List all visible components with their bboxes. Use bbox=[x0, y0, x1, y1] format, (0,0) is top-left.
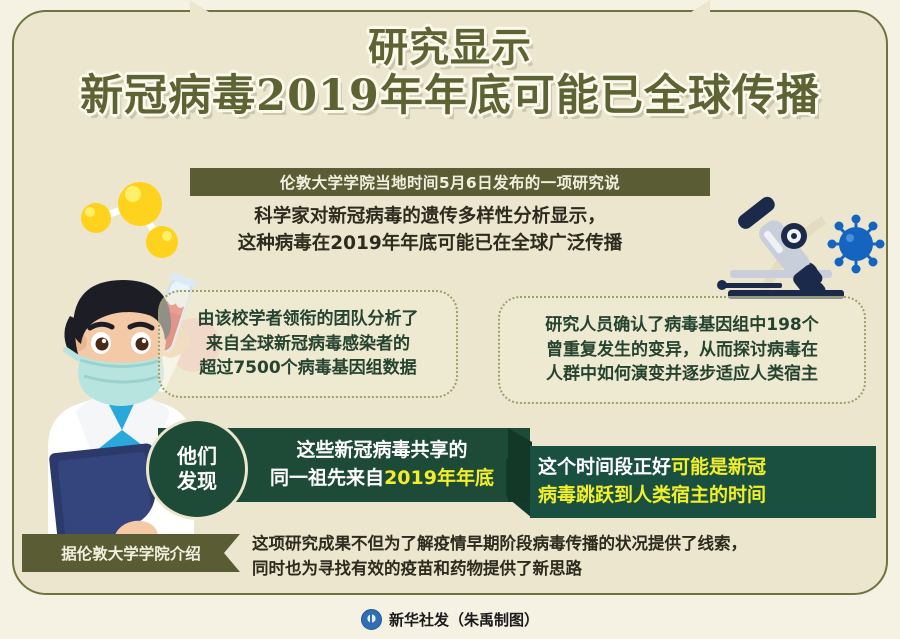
right-dotted-callout: 研究人员确认了病毒基因组中198个 曾重复发生的变异，从而探讨病毒在 人群中如何… bbox=[498, 296, 866, 404]
left-dotted-callout: 由该校学者领衔的团队分析了 来自全球新冠病毒感染者的 超过7500个病毒基因组数… bbox=[158, 290, 458, 398]
finding-band-primary-text: 这些新冠病毒共享的 同一祖先来自2019年年底 bbox=[248, 432, 516, 498]
finding-band-secondary-text: 这个时间段正好可能是新冠 病毒跳跃到人类宿主的时间 bbox=[538, 450, 872, 514]
virus-particle bbox=[825, 213, 887, 275]
lead-line-1: 科学家对新冠病毒的遗传多样性分析显示， bbox=[150, 204, 710, 231]
lead-paragraph: 科学家对新冠病毒的遗传多样性分析显示， 这种病毒在2019年年底可能已在全球广泛… bbox=[150, 204, 710, 258]
band1-line-2: 同一祖先来自2019年年底 bbox=[270, 465, 494, 493]
band1-line-1: 这些新冠病毒共享的 bbox=[296, 437, 467, 465]
lead-line-2: 这种病毒在2019年年底可能已在全球广泛传播 bbox=[150, 231, 710, 258]
findings-badge: 他们 发现 bbox=[146, 418, 248, 520]
badge-line-1: 他们 bbox=[177, 444, 217, 469]
infographic-root: 研究显示 新冠病毒2019年年底可能已全球传播 伦敦大学学院当地时间5月6日发布… bbox=[0, 0, 900, 639]
right-callout-line-2: 曾重复发生的变异，从而探讨病毒在 bbox=[545, 338, 819, 363]
bottom-source-tag-label: 据伦敦大学学院介绍 bbox=[61, 542, 201, 564]
band2-line-1: 这个时间段正好可能是新冠 bbox=[538, 454, 766, 482]
band2-line-1-plain: 这个时间段正好 bbox=[538, 456, 671, 478]
right-callout-line-3: 人群中如何演变并逐步适应人类宿主 bbox=[545, 362, 819, 387]
left-callout-line-2: 来自全球新冠病毒感染者的 bbox=[198, 332, 419, 357]
bottom-source-tag: 据伦敦大学学院介绍 bbox=[22, 534, 240, 572]
right-callout-line-1: 研究人员确认了病毒基因组中198个 bbox=[545, 313, 819, 338]
bottom-line-1: 这项研究成果不但为了解疫情早期阶段病毒传播的状况提供了线索， bbox=[252, 532, 864, 557]
source-ribbon: 伦敦大学学院当地时间5月6日发布的一项研究说 bbox=[190, 168, 710, 196]
bottom-line-2: 同时也为寻找有效的疫苗和药物提供了新思路 bbox=[252, 557, 864, 582]
left-callout-line-1: 由该校学者领衔的团队分析了 bbox=[198, 307, 419, 332]
microscope-icon bbox=[710, 186, 890, 306]
left-callout-line-3: 超过7500个病毒基因组数据 bbox=[198, 356, 419, 381]
bottom-paragraph: 这项研究成果不但为了解疫情早期阶段病毒传播的状况提供了线索， 同时也为寻找有效的… bbox=[252, 532, 864, 582]
footer-credit: 新华社发（朱禹制图） bbox=[389, 609, 539, 630]
xinhua-logo-icon bbox=[361, 609, 382, 630]
band2-line-1-highlight: 可能是新冠 bbox=[671, 456, 766, 478]
badge-line-2: 发现 bbox=[177, 469, 217, 494]
band1-line-2-highlight: 2019年年底 bbox=[384, 467, 494, 489]
band2-line-2: 病毒跳跃到人类宿主的时间 bbox=[538, 482, 766, 510]
band1-line-2-plain: 同一祖先来自 bbox=[270, 467, 384, 489]
source-ribbon-label: 伦敦大学学院当地时间5月6日发布的一项研究说 bbox=[280, 171, 620, 193]
footer: 新华社发（朱禹制图） bbox=[0, 604, 900, 634]
